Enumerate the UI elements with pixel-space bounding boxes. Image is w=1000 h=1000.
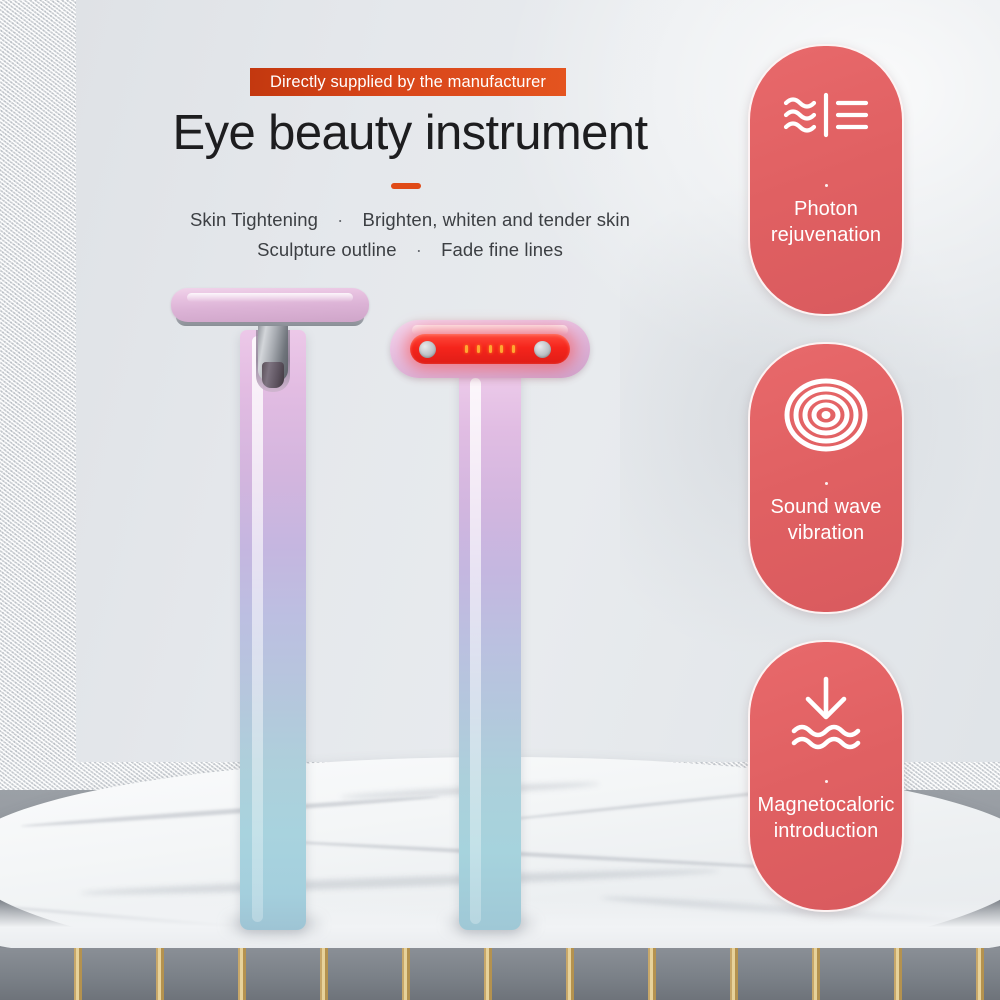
badge-separator-dot (825, 482, 828, 485)
page-title: Eye beauty instrument (0, 105, 820, 161)
separator-dot: · (323, 209, 357, 231)
badge-separator-dot (825, 780, 828, 783)
left-device-handle (240, 330, 306, 930)
badge-label-line-1: Magnetocaloric (753, 792, 899, 818)
feature-badge-photon-rejuvenation[interactable]: Photon rejuvenation (748, 44, 904, 316)
badge-label-line-1: Sound wave (753, 494, 899, 520)
badge-label: Magnetocaloric introduction (753, 792, 899, 844)
feature-badge-sound-wave-vibration[interactable]: Sound wave vibration (748, 342, 904, 614)
right-device-electrode-left (419, 341, 436, 358)
gold-table-legs (0, 948, 1000, 1000)
badge-label-line-2: introduction (753, 818, 899, 844)
benefit-fade-lines: Fade fine lines (441, 239, 563, 260)
ribbon-label: Directly supplied by the manufacturer (270, 73, 546, 92)
separator-dot: · (402, 239, 436, 261)
benefit-skin-tightening: Skin Tightening (190, 209, 318, 230)
subtitle-line-1: Skin Tightening · Brighten, whiten and t… (0, 209, 820, 231)
benefit-brighten: Brighten, whiten and tender skin (363, 209, 631, 230)
right-device-handle (459, 372, 521, 930)
badge-label-line-2: rejuvenation (753, 222, 899, 248)
accent-divider (391, 183, 421, 189)
right-device-electrode-right (534, 341, 551, 358)
feature-badge-magnetocaloric-introduction[interactable]: Magnetocaloric introduction (748, 640, 904, 912)
badge-label-line-2: vibration (753, 520, 899, 546)
benefit-sculpture: Sculpture outline (257, 239, 397, 260)
photon-waves-lines-icon (780, 80, 872, 154)
concentric-ripple-icon (784, 378, 868, 452)
badge-label: Sound wave vibration (753, 494, 899, 546)
badge-label-line-1: Photon (753, 196, 899, 222)
left-device-highlight (252, 336, 263, 922)
badge-label: Photon rejuvenation (753, 196, 899, 248)
subtitle-line-2: Sculpture outline · Fade fine lines (0, 239, 820, 261)
manufacturer-ribbon: Directly supplied by the manufacturer (250, 68, 566, 96)
right-device-highlight (470, 378, 481, 924)
down-arrow-waves-icon (784, 676, 868, 750)
badge-separator-dot (825, 184, 828, 187)
left-device-probe-tip (262, 362, 284, 388)
right-device-led-dots (465, 345, 515, 353)
product-banner: Directly supplied by the manufacturer Ey… (0, 0, 1000, 1000)
left-device-t-head (171, 288, 369, 322)
